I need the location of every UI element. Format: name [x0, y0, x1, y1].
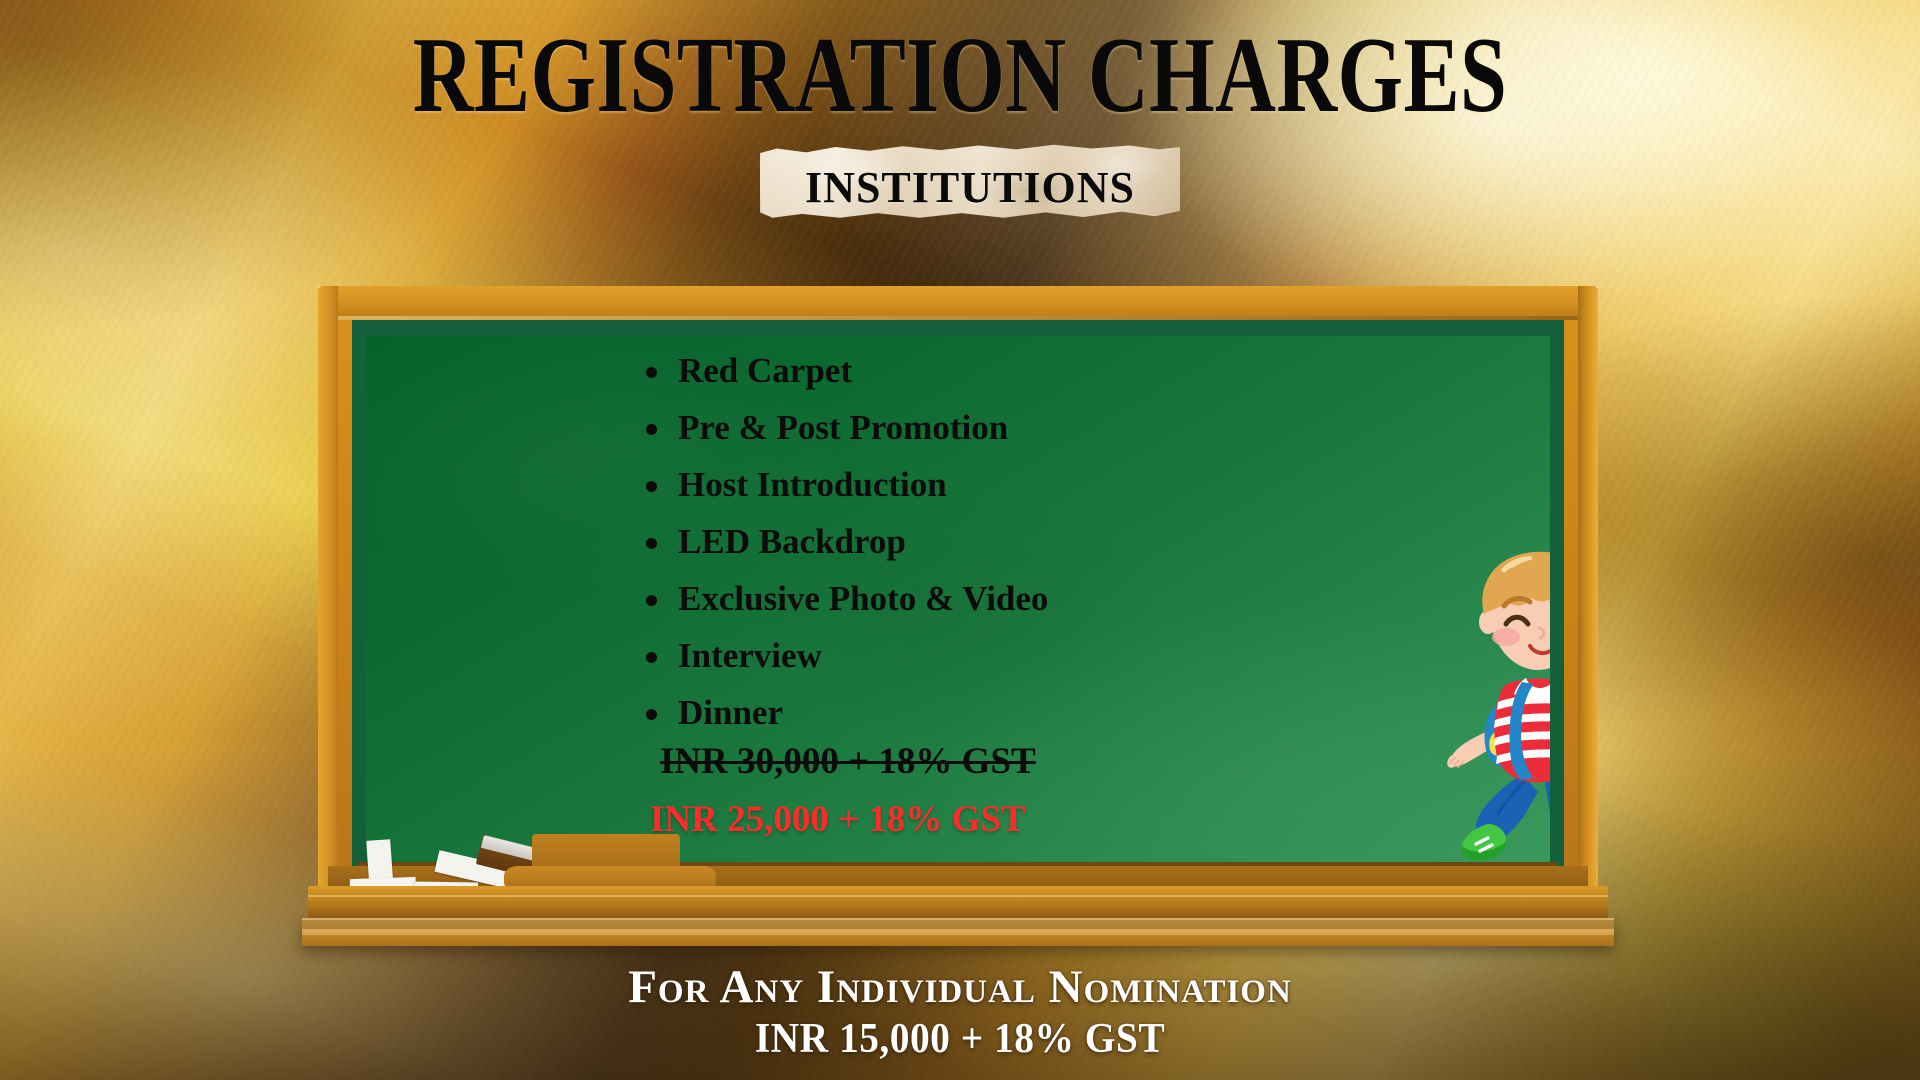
page-title: REGISTRATION CHARGES	[211, 22, 1709, 130]
list-item: Pre & Post Promotion	[644, 399, 1048, 456]
list-item: Red Carpet	[644, 342, 1048, 399]
boy-head	[1479, 552, 1550, 670]
list-item: Exclusive Photo & Video	[644, 570, 1048, 627]
banner-label: INSTITUTIONS	[760, 149, 1180, 225]
list-item: Dinner	[644, 684, 1048, 741]
frame-top-edge	[318, 286, 1598, 320]
chalkboard-wood-frame: Red Carpet Pre & Post Promotion Host Int…	[318, 286, 1598, 896]
poster-canvas: REGISTRATION CHARGES INSTITUTIONS Red Ca…	[0, 0, 1920, 1080]
frame-left-edge	[318, 286, 338, 896]
list-item: LED Backdrop	[644, 513, 1048, 570]
footer-line-2: INR 15,000 + 18% GST	[58, 1014, 1863, 1064]
list-item: Interview	[644, 627, 1048, 684]
frame-right-edge	[1578, 286, 1598, 896]
chalkboard-shelf-front	[302, 918, 1614, 946]
schoolboy-svg	[1426, 536, 1550, 886]
footer-text-block: For Any Individual Nomination INR 15,000…	[0, 960, 1920, 1064]
footer-line-1: For Any Individual Nomination	[0, 960, 1920, 1014]
chalkboard: Red Carpet Pre & Post Promotion Host Int…	[318, 286, 1598, 946]
chalkboard-surface: Red Carpet Pre & Post Promotion Host Int…	[366, 336, 1550, 896]
institutions-banner: INSTITUTIONS	[760, 144, 1180, 220]
chalkboard-shelf	[308, 886, 1608, 920]
price-original-strikethrough: INR 30,000 + 18% GST	[660, 740, 1036, 783]
benefits-list: Red Carpet Pre & Post Promotion Host Int…	[644, 342, 1048, 741]
waving-schoolboy-illustration	[1426, 536, 1550, 886]
list-item: Host Introduction	[644, 456, 1048, 513]
price-offer: INR 25,000 + 18% GST	[650, 798, 1026, 841]
